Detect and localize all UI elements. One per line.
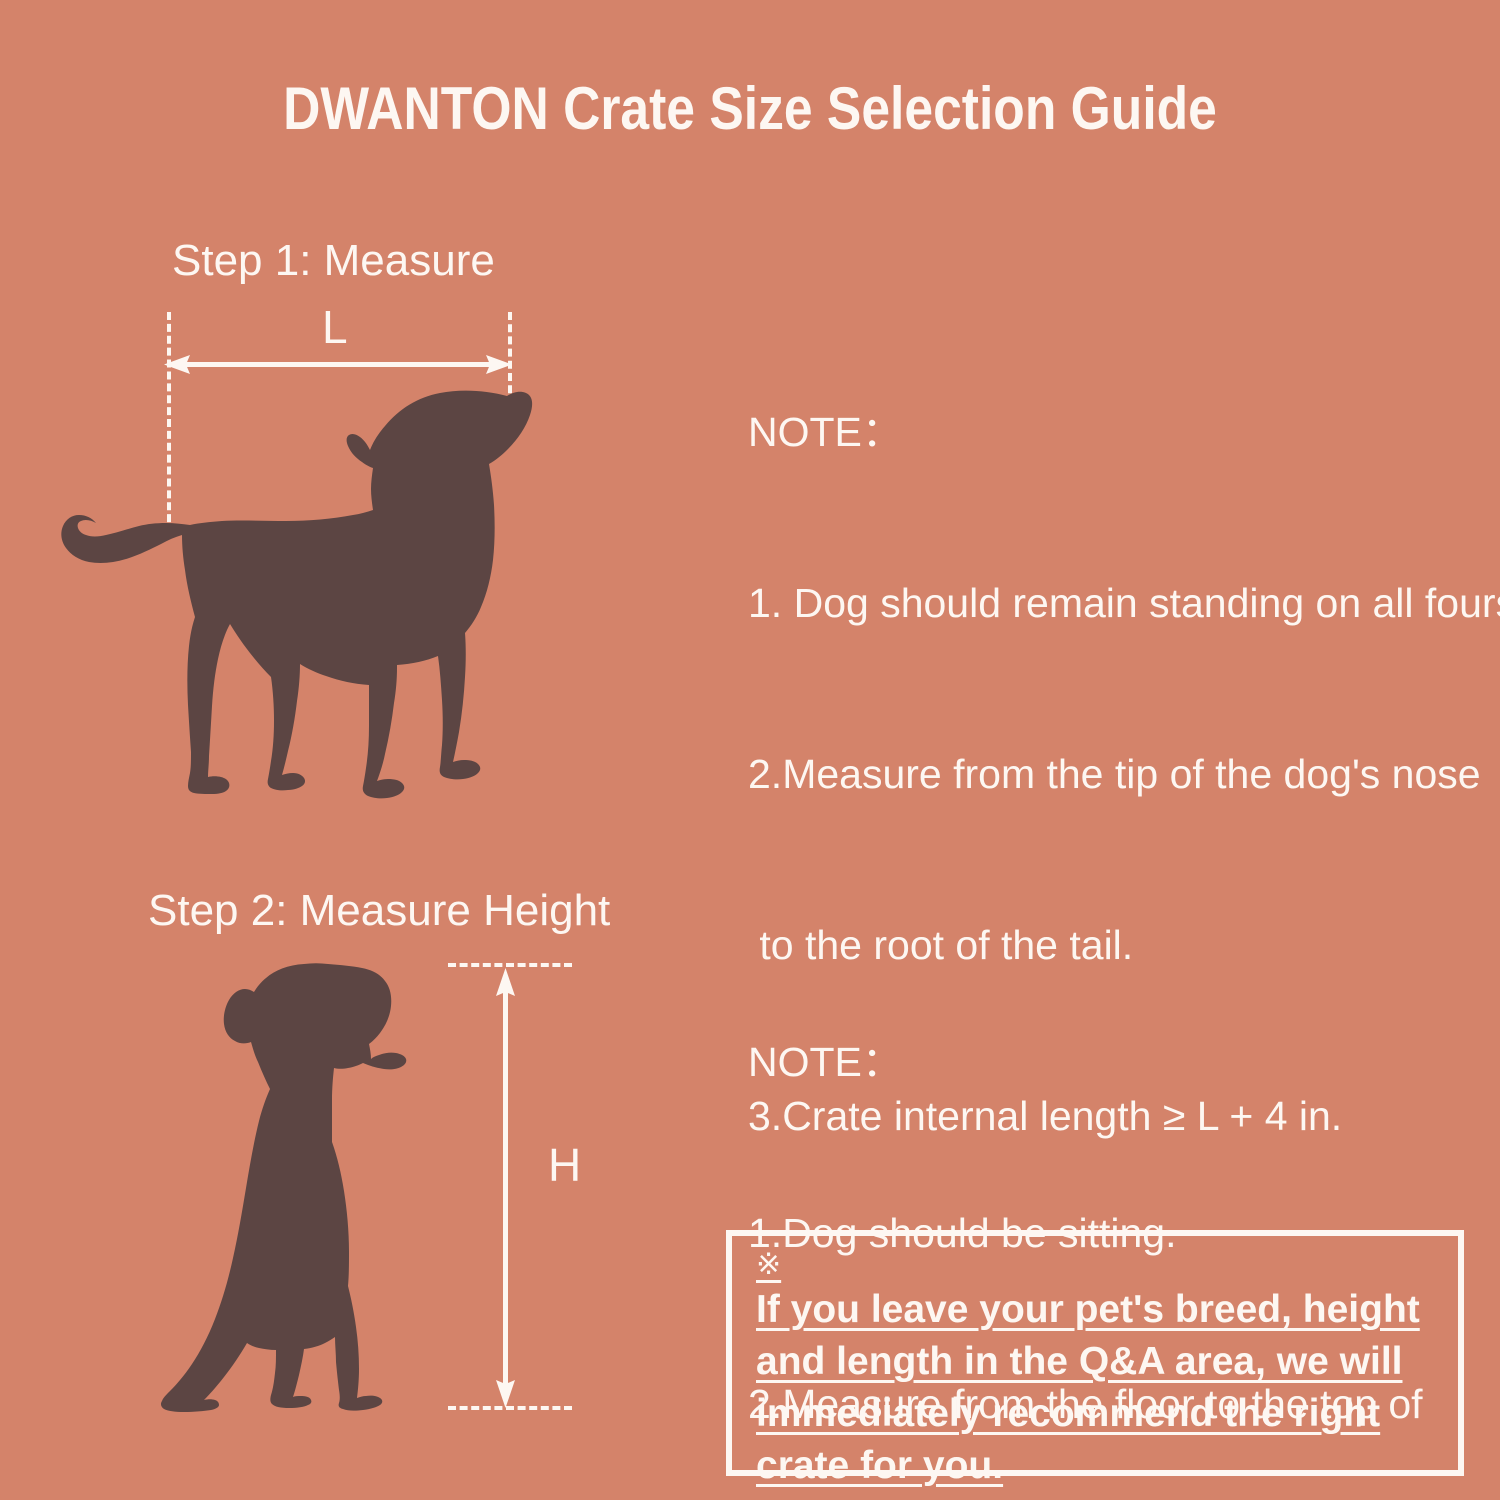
sitting-dog-silhouette xyxy=(158,948,458,1418)
reference-mark-icon: ※ xyxy=(756,1248,1440,1282)
standing-dog-silhouette xyxy=(60,378,540,818)
crate-size-guide-infographic: DWANTON Crate Size Selection Guide Step … xyxy=(0,0,1500,1500)
note-1-line-2: 2.Measure from the tip of the dog's nose xyxy=(748,746,1500,803)
step-1-heading: Step 1: Measure xyxy=(172,236,495,286)
note-1-line-1: 1. Dog should remain standing on all fou… xyxy=(748,575,1500,632)
note-1-heading: NOTE： xyxy=(748,404,1500,461)
callout-text: If you leave your pet's breed, height an… xyxy=(756,1284,1440,1492)
length-dimension-label: L xyxy=(322,300,348,354)
step-2-heading: Step 2: Measure Height xyxy=(148,886,610,936)
length-measure-arrow xyxy=(160,348,516,382)
qa-recommendation-callout: ※ If you leave your pet's breed, height … xyxy=(726,1230,1464,1476)
height-measure-arrow xyxy=(488,966,522,1410)
height-dimension-label: H xyxy=(548,1138,581,1192)
page-title: DWANTON Crate Size Selection Guide xyxy=(105,74,1395,143)
note-2-heading: NOTE： xyxy=(748,1034,1423,1091)
